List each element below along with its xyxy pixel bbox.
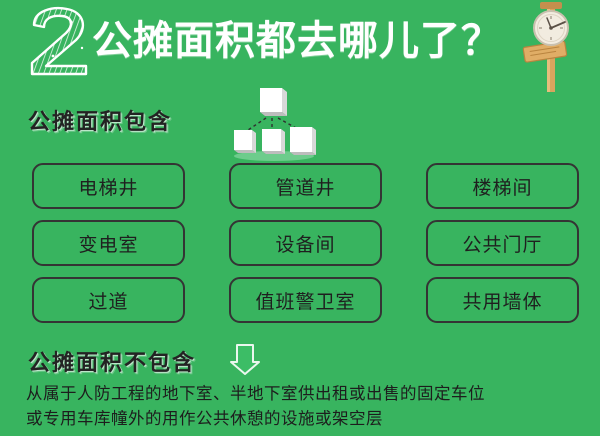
page-title: 公摊面积都去哪儿了？ bbox=[92, 18, 502, 64]
shared-area-items-grid: 电梯井 管道井 楼梯间 变电室 设备间 公共门厅 过道 值班警卫室 共用墙体 bbox=[32, 163, 580, 323]
exclude-note-line-1: 从属于人防工程的地下室、半地下室供出租或出售的固定车位 bbox=[26, 381, 586, 406]
blocks-split-icon bbox=[226, 86, 318, 162]
chip-public-lobby[interactable]: 公共门厅 bbox=[426, 220, 579, 266]
infographic-poster: 公摊面积都去哪儿了？ 公摊面积 bbox=[0, 0, 600, 436]
chip-shared-walls[interactable]: 共用墙体 bbox=[426, 277, 579, 323]
gauge-post-icon bbox=[516, 0, 586, 94]
chip-stairwell[interactable]: 楼梯间 bbox=[426, 163, 579, 209]
chip-equipment-room[interactable]: 设备间 bbox=[229, 220, 382, 266]
exclude-note-line-2: 或专用车库幢外的用作公共休憩的设施或架空层 bbox=[26, 406, 586, 431]
include-section-heading: 公摊面积包含 bbox=[28, 104, 172, 136]
poster-header: 公摊面积都去哪儿了？ bbox=[0, 0, 600, 88]
chip-guard-duty-room[interactable]: 值班警卫室 bbox=[229, 277, 382, 323]
chip-elevator-shaft[interactable]: 电梯井 bbox=[32, 163, 185, 209]
chip-corridor[interactable]: 过道 bbox=[32, 277, 185, 323]
down-arrow-icon bbox=[228, 342, 262, 376]
chip-pipe-shaft[interactable]: 管道井 bbox=[229, 163, 382, 209]
step-number-2-icon bbox=[26, 4, 94, 76]
exclude-section-heading: 公摊面积不包含 bbox=[28, 345, 196, 377]
chip-substation-room[interactable]: 变电室 bbox=[32, 220, 185, 266]
exclude-note: 从属于人防工程的地下室、半地下室供出租或出售的固定车位 或专用车库幢外的用作公共… bbox=[26, 381, 586, 431]
